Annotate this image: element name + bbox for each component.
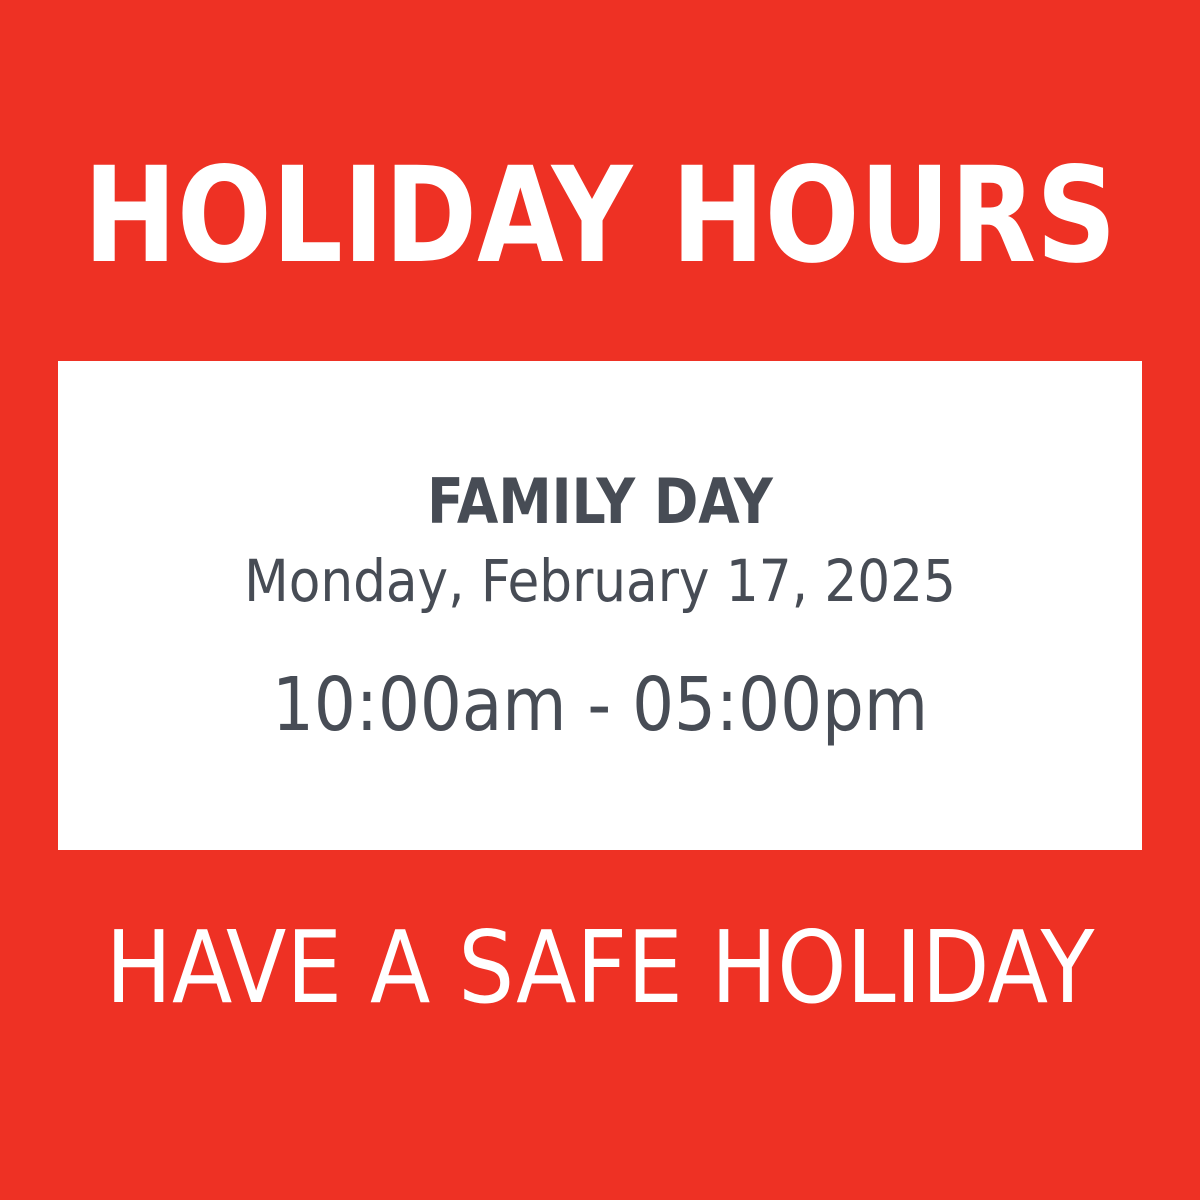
holiday-hours-poster: HOLIDAY HOURS FAMILY DAY Monday, Februar… — [0, 0, 1200, 1200]
holiday-info-card-content: FAMILY DAY Monday, February 17, 2025 10:… — [58, 469, 1142, 745]
holiday-info-card: FAMILY DAY Monday, February 17, 2025 10:… — [58, 361, 1142, 850]
holiday-date: Monday, February 17, 2025 — [63, 549, 1136, 613]
holiday-hours-range: 10:00am - 05:00pm — [63, 665, 1136, 745]
page-title: HOLIDAY HOURS — [36, 150, 1164, 282]
holiday-name: FAMILY DAY — [80, 469, 1121, 535]
footer-message: HAVE A SAFE HOLIDAY — [12, 916, 1188, 1020]
